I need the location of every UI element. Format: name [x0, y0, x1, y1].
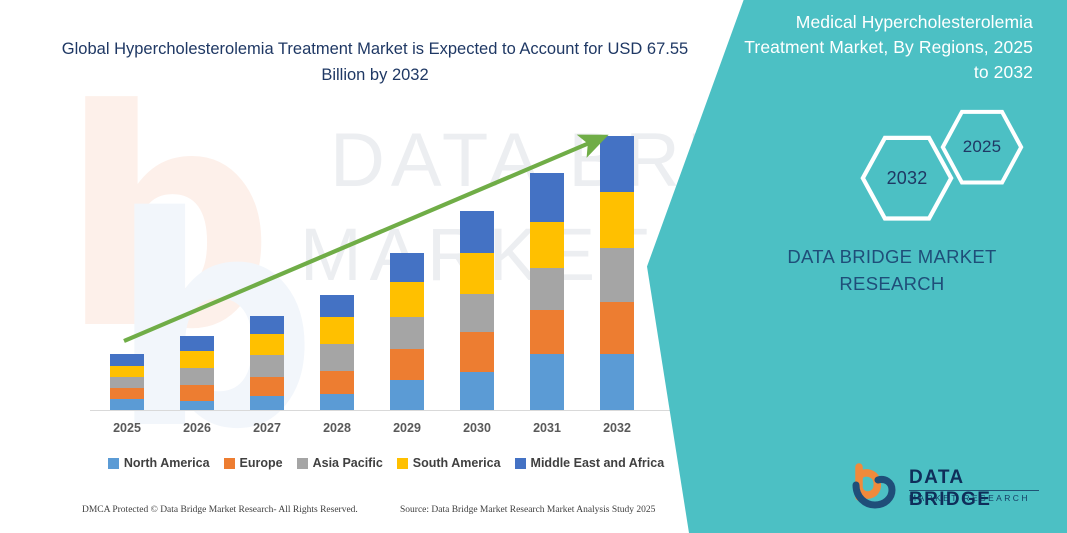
dbmr-logo-title: DATA BRIDGE: [909, 467, 1041, 511]
footer-copyright: DMCA Protected © Data Bridge Market Rese…: [82, 505, 358, 515]
x-axis-label: 2028: [302, 421, 372, 435]
legend-item[interactable]: Asia Pacific: [297, 456, 383, 470]
bar-segment[interactable]: [530, 354, 564, 410]
hexagon-badges: 2032 2025: [821, 108, 1031, 213]
bar-segment[interactable]: [250, 334, 284, 355]
stacked-bar[interactable]: [180, 336, 214, 410]
legend-label: North America: [124, 456, 210, 470]
bar-segment[interactable]: [530, 173, 564, 222]
legend-swatch-icon: [108, 458, 119, 469]
stacked-bar[interactable]: [320, 295, 354, 410]
bar-segment[interactable]: [530, 310, 564, 354]
bar-segment[interactable]: [390, 317, 424, 349]
legend-label: Europe: [240, 456, 283, 470]
bar-segment[interactable]: [530, 268, 564, 309]
legend-item[interactable]: North America: [108, 456, 210, 470]
x-axis-label: 2029: [372, 421, 442, 435]
bar-segment[interactable]: [600, 302, 634, 355]
bar-segment[interactable]: [320, 295, 354, 317]
legend-label: South America: [413, 456, 501, 470]
bar-segment[interactable]: [390, 253, 424, 281]
bar-segment[interactable]: [320, 344, 354, 370]
panel-title: Medical Hypercholesterolemia Treatment M…: [733, 10, 1033, 85]
stacked-bar[interactable]: [600, 136, 634, 410]
bar-segment[interactable]: [460, 332, 494, 371]
bar-segment[interactable]: [390, 380, 424, 410]
bar-segment[interactable]: [250, 377, 284, 396]
bar-segment[interactable]: [600, 248, 634, 302]
dbmr-monogram-icon: [851, 463, 907, 513]
bar-segment[interactable]: [320, 371, 354, 394]
bar-segment[interactable]: [600, 192, 634, 249]
bar-segment[interactable]: [390, 282, 424, 317]
bar-segment[interactable]: [180, 351, 214, 367]
legend-swatch-icon: [515, 458, 526, 469]
x-axis-label: 2030: [442, 421, 512, 435]
bar-segment[interactable]: [250, 355, 284, 376]
legend-swatch-icon: [397, 458, 408, 469]
stacked-bar[interactable]: [460, 211, 494, 410]
x-axis-label: 2026: [162, 421, 232, 435]
bar-segment[interactable]: [110, 377, 144, 388]
legend-swatch-icon: [224, 458, 235, 469]
bar-segment[interactable]: [110, 354, 144, 365]
legend-item[interactable]: Europe: [224, 456, 283, 470]
bar-segment[interactable]: [110, 366, 144, 377]
bar-segment[interactable]: [180, 385, 214, 401]
x-axis-label: 2027: [232, 421, 302, 435]
dbmr-logo-subtitle: MARKET RESEARCH: [909, 493, 1030, 503]
stacked-bar[interactable]: [250, 316, 284, 410]
dbmr-logo: DATA BRIDGE MARKET RESEARCH: [851, 463, 1041, 515]
dbmr-logo-rule: [909, 490, 1039, 491]
infographic-root: b b DATA BRIDGE MARKET RESEARCH Global H…: [0, 0, 1067, 533]
bar-segment[interactable]: [320, 394, 354, 410]
bar-segment[interactable]: [460, 294, 494, 332]
hexagon-end-year-label: 2032: [887, 168, 928, 189]
bar-segment[interactable]: [390, 349, 424, 379]
x-axis-label: 2025: [92, 421, 162, 435]
bar-segment[interactable]: [110, 388, 144, 399]
panel-brand-text: DATA BRIDGE MARKET RESEARCH: [747, 243, 1037, 297]
x-axis-line: [90, 410, 670, 411]
legend-swatch-icon: [297, 458, 308, 469]
bar-segment[interactable]: [460, 372, 494, 410]
stacked-bar[interactable]: [530, 173, 564, 410]
bar-segment[interactable]: [320, 317, 354, 344]
legend-label: Middle East and Africa: [531, 456, 665, 470]
bar-segment[interactable]: [460, 211, 494, 253]
hexagon-start-year-label: 2025: [963, 137, 1002, 157]
x-axis-label: 2032: [582, 421, 652, 435]
footer-source: Source: Data Bridge Market Research Mark…: [400, 505, 655, 515]
bar-segment[interactable]: [600, 136, 634, 192]
bar-segment[interactable]: [530, 222, 564, 269]
stacked-bar[interactable]: [390, 253, 424, 410]
legend-item[interactable]: Middle East and Africa: [515, 456, 665, 470]
x-axis-label: 2031: [512, 421, 582, 435]
chart-legend: North AmericaEuropeAsia PacificSouth Ame…: [96, 456, 676, 470]
bar-segment[interactable]: [460, 253, 494, 293]
legend-label: Asia Pacific: [313, 456, 383, 470]
legend-item[interactable]: South America: [397, 456, 501, 470]
bar-segment[interactable]: [180, 401, 214, 410]
bar-segment[interactable]: [250, 316, 284, 334]
bar-segment[interactable]: [110, 399, 144, 410]
bar-segment[interactable]: [600, 354, 634, 410]
bar-segment[interactable]: [180, 336, 214, 351]
hexagon-badge-start-year: 2025: [939, 108, 1025, 186]
stacked-bar[interactable]: [110, 354, 144, 410]
chart-plot-area: 20252026202720282029203020312032: [0, 0, 700, 533]
bar-segment[interactable]: [250, 396, 284, 410]
bar-segment[interactable]: [180, 368, 214, 385]
